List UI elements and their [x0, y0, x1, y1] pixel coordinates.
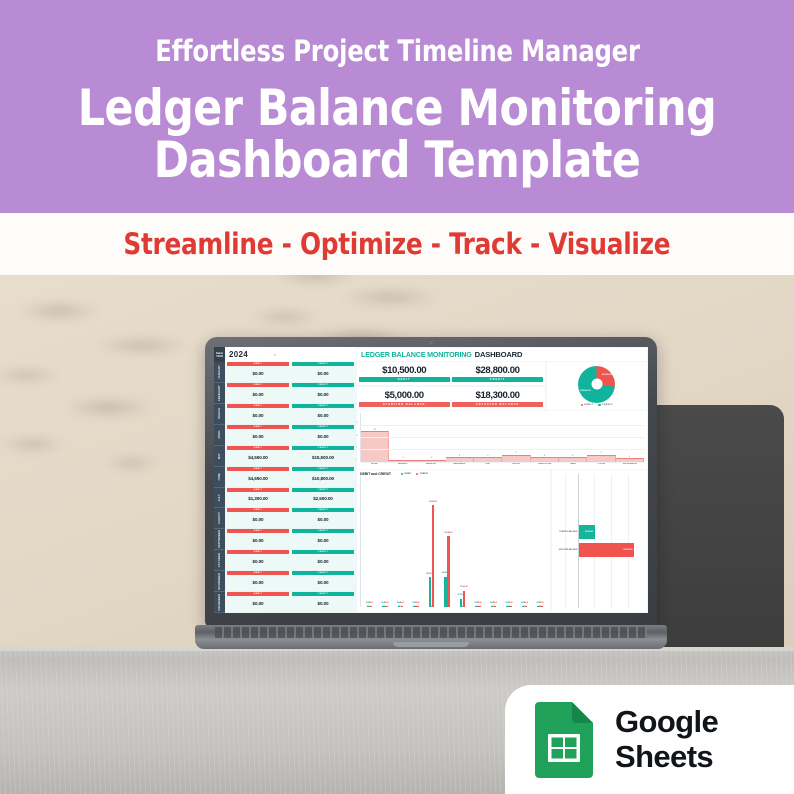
- x-axis-label: NOV: [517, 607, 532, 611]
- bar-value-label: $2,500.00: [461, 587, 468, 588]
- kpi-credit-value: $28,800.00: [452, 365, 543, 376]
- ledger-debit-cell: DEBIT$0.00: [227, 404, 289, 423]
- ledger-row: DEBIT$0.00CREDIT$0.00: [225, 571, 356, 592]
- ledger-debit-cell: DEBIT$0.00: [227, 362, 289, 381]
- ledger-row: DEBIT$1,300.00CREDIT$2,500.00: [225, 488, 356, 509]
- google-sheets-label: Google Sheets: [615, 705, 718, 774]
- ledger-credit-cell: CREDIT$0.00: [292, 550, 354, 569]
- ledger-debit-value: $0.00: [227, 575, 289, 590]
- chevron-down-icon[interactable]: ▾: [274, 353, 276, 357]
- bar-credit: $2,500.00: [463, 591, 466, 607]
- dashboard-header: LEDGER BALANCE MONITORING DASHBOARD: [357, 348, 647, 361]
- kpi-debit-value: $10,500.00: [359, 365, 450, 376]
- bar-group: $0.00$0.00: [409, 476, 424, 607]
- step-value-label: 2: [572, 455, 573, 457]
- kpi-row-bottom: $5,000.00 STARTING BALANCE $18,300.00 AD…: [357, 387, 545, 410]
- kpi-adjusted-balance: $18,300.00 ADJUSTED BALANCE: [452, 389, 543, 409]
- bar-value-label: $0.00: [369, 603, 373, 604]
- tagline-band: Streamline - Optimize - Track - Visualiz…: [0, 213, 794, 275]
- kpi-starting-balance: $5,000.00 STARTING BALANCE: [359, 389, 450, 409]
- bar-group: $0.00$0.00: [502, 476, 517, 607]
- page-title-line-1: Ledger Balance Monitoring: [78, 82, 716, 134]
- ledger-debit-value: $0.00: [227, 596, 289, 611]
- ledger-debit-value: $0.00: [227, 554, 289, 569]
- legend-swatch-credit-icon: [598, 404, 600, 406]
- ledger-credit-value: $0.00: [292, 408, 354, 423]
- ledger-debit-cell: DEBIT$0.00: [227, 592, 289, 611]
- bar-group: $0.00$0.00: [486, 476, 501, 607]
- kpi-grid: $10,500.00 DEBIT $28,800.00 CREDIT: [357, 362, 545, 410]
- x-axis-label: DEC: [533, 607, 548, 611]
- laptop-keyboard: [215, 627, 647, 638]
- ledger-debit-value: $0.00: [227, 387, 289, 402]
- hero-eyebrow: Effortless Project Timeline Manager: [155, 34, 640, 68]
- sidebar-month-sep[interactable]: SEPTEMBER: [214, 529, 225, 550]
- ledger-row: DEBIT$0.00CREDIT$0.00: [225, 550, 356, 571]
- ledger-credit-value: $0.00: [292, 554, 354, 569]
- x-axis-label: MARKETING: [417, 463, 445, 468]
- donut-legend: DEBIT CREDIT: [581, 404, 613, 406]
- ledger-table: 2024 ▾ DEBIT$0.00CREDIT$0.00DEBIT$0.00CR…: [225, 347, 356, 613]
- ledger-credit-cell: CREDIT$0.00: [292, 508, 354, 527]
- bar-value-label: $0.00: [540, 603, 544, 604]
- debit-credit-donut-chart: $10,500.00 $28,800.00: [578, 366, 615, 403]
- category-step-series: 13112232232: [361, 413, 644, 462]
- ledger-credit-cell: CREDIT$10,800.00: [292, 467, 354, 486]
- ledger-credit-cell: CREDIT$0.00: [292, 404, 354, 423]
- page-title-line-2: Dashboard Template: [78, 134, 716, 186]
- kpi-debit-label: DEBIT: [359, 377, 450, 382]
- hbar-value-adjusted-balance: $18,300.00: [624, 549, 633, 551]
- debit-credit-bar-legend: DEBIT CREDIT: [401, 473, 428, 475]
- sidebar-month-oct[interactable]: OCTOBER: [214, 550, 225, 571]
- x-axis-label: MAY: [423, 607, 438, 611]
- kpi-starting-balance-value: $5,000.00: [359, 390, 450, 401]
- kpi-credit-label: CREDIT: [452, 377, 543, 382]
- step-value-label: 2: [629, 456, 630, 458]
- step-value-label: 2: [459, 455, 460, 457]
- donut-legend-credit: CREDIT: [598, 404, 613, 406]
- ledger-row: DEBIT$0.00CREDIT$0.00: [225, 362, 356, 383]
- hbar-bar-adjusted-balance: $18,300.00: [579, 543, 634, 557]
- sidebar-month-jul[interactable]: JULY: [214, 488, 225, 509]
- ledger-credit-value: $15,500.00: [292, 450, 354, 465]
- kpi-region: $10,500.00 DEBIT $28,800.00 CREDIT: [357, 362, 647, 410]
- ledger-credit-cell: CREDIT$0.00: [292, 592, 354, 611]
- ledger-debit-value: $0.00: [227, 408, 289, 423]
- month-sidebar: Select YEAR JANUARY FEBRUARY MARCH APRIL…: [214, 347, 225, 613]
- hbar-row-starting-balance: STARTING BALANCE $5,000.00: [554, 525, 645, 539]
- bar-value-label: $0.00: [524, 603, 528, 604]
- ledger-debit-cell: DEBIT$0.00: [227, 425, 289, 444]
- hbar-value-starting-balance: $5,000.00: [585, 531, 593, 533]
- category-step-chart-plot: 13112232232 051015: [360, 413, 644, 462]
- bar-group: $0.00$0.00: [533, 476, 548, 607]
- legend-swatch-bar-credit-icon: [416, 473, 418, 475]
- ledger-row: DEBIT$0.00CREDIT$0.00: [225, 529, 356, 550]
- ledger-credit-value: $0.00: [292, 387, 354, 402]
- category-step-chart-xaxis: INCOMEINSURANCEMARKETINGMAINTENANCERENTS…: [360, 462, 644, 468]
- laptop-screen: Select YEAR JANUARY FEBRUARY MARCH APRIL…: [214, 347, 648, 613]
- select-year-label-line2: YEAR: [216, 355, 223, 358]
- ledger-debit-value: $4,650.00: [227, 471, 289, 486]
- bar-group: $0.00$0.00: [378, 476, 393, 607]
- kpi-debit: $10,500.00 DEBIT: [359, 364, 450, 384]
- bar-credit: $10,800.00: [447, 536, 450, 607]
- hbar-bar-starting-balance: $5,000.00: [579, 525, 595, 539]
- webcam-icon: [429, 341, 433, 345]
- sidebar-month-jun[interactable]: JUNE: [214, 467, 225, 488]
- x-axis-label: APR: [408, 607, 423, 611]
- x-axis-label: INSURANCE: [388, 463, 416, 468]
- ledger-credit-value: $10,800.00: [292, 471, 354, 486]
- ledger-debit-cell: DEBIT$4,550.00: [227, 446, 289, 465]
- ledger-credit-cell: CREDIT$0.00: [292, 383, 354, 402]
- ledger-credit-cell: CREDIT$0.00: [292, 571, 354, 590]
- ledger-debit-cell: DEBIT$0.00: [227, 383, 289, 402]
- ledger-credit-cell: CREDIT$0.00: [292, 362, 354, 381]
- balance-comparison-card: STARTING BALANCE $5,000.00 ADJUSTED BALA…: [552, 470, 647, 612]
- laptop-mockup: Select YEAR JANUARY FEBRUARY MARCH APRIL…: [195, 337, 667, 655]
- ledger-debit-cell: DEBIT$0.00: [227, 508, 289, 527]
- category-step-chart-card: 13112232232 051015 INCOMEINSURANCEMARKET…: [357, 411, 647, 469]
- ledger-debit-value: $4,550.00: [227, 450, 289, 465]
- ledger-credit-value: $0.00: [292, 533, 354, 548]
- ledger-credit-cell: CREDIT$0.00: [292, 529, 354, 548]
- bar-credit: $0.00: [478, 606, 481, 607]
- ledger-credit-value: $2,500.00: [292, 492, 354, 507]
- step-value-label: 13: [374, 429, 376, 431]
- sidebar-month-feb[interactable]: FEBRUARY: [214, 383, 225, 404]
- ledger-debit-value: $0.00: [227, 512, 289, 527]
- bar-value-label: $10,800.00: [445, 533, 453, 534]
- donut-chart-card: $10,500.00 $28,800.00 DEBIT CREDIT: [547, 362, 647, 410]
- product-photo-scene: Select YEAR JANUARY FEBRUARY MARCH APRIL…: [0, 275, 794, 794]
- hero-banner: Effortless Project Timeline Manager Ledg…: [0, 0, 794, 213]
- ledger-credit-cell: CREDIT$2,500.00: [292, 488, 354, 507]
- bar-credit: $0.00: [401, 606, 404, 607]
- bar-credit: $0.00: [540, 606, 543, 607]
- x-axis-label: JAN: [361, 607, 376, 611]
- bar-group: $0.00$0.00: [362, 476, 377, 607]
- ledger-debit-value: $0.00: [227, 429, 289, 444]
- ledger-debit-cell: DEBIT$0.00: [227, 550, 289, 569]
- bar-group: $0.00$0.00: [393, 476, 408, 607]
- sidebar-month-may[interactable]: MAY: [214, 446, 225, 467]
- debit-credit-bar-plot: $0.00$0.00$0.00$0.00$0.00$0.00$0.00$0.00…: [360, 476, 548, 607]
- ledger-row: DEBIT$0.00CREDIT$0.00: [225, 425, 356, 446]
- bottom-charts-row: DEBIT and CREDIT DEBIT CREDIT $0.00$0.00…: [357, 470, 647, 612]
- y-axis-tick: 10: [356, 435, 358, 437]
- bar-group: $0.00$0.00: [517, 476, 532, 607]
- step-value-label: 2: [487, 455, 488, 457]
- donut-label-debit: $10,500.00: [602, 374, 612, 376]
- bar-group: $4,550.00$15,500.00: [424, 476, 439, 607]
- x-axis-label: RENT: [474, 463, 502, 468]
- hbar-label-adjusted-balance: ADJUSTED BALANCE: [554, 549, 580, 551]
- bar-value-label: $0.00: [416, 603, 420, 604]
- bar-credit: $0.00: [370, 606, 373, 607]
- bar-legend-debit: DEBIT: [401, 473, 411, 475]
- ledger-row: DEBIT$4,650.00CREDIT$10,800.00: [225, 467, 356, 488]
- dashboard-title-accent: LEDGER BALANCE MONITORING: [361, 350, 472, 359]
- year-selector[interactable]: 2024 ▾: [225, 347, 356, 362]
- ledger-debit-value: $0.00: [227, 533, 289, 548]
- step-segment: 13: [361, 431, 389, 462]
- bar-credit: $0.00: [416, 606, 419, 607]
- ledger-row: DEBIT$0.00CREDIT$0.00: [225, 592, 356, 613]
- hbar-row-adjusted-balance: ADJUSTED BALANCE $18,300.00: [554, 543, 645, 557]
- sidebar-month-dec[interactable]: DECEMBER: [214, 592, 225, 613]
- bar-legend-credit: CREDIT: [416, 473, 428, 475]
- x-axis-label: MAINTENANCE: [445, 463, 473, 468]
- hbar-label-starting-balance: STARTING BALANCE: [554, 531, 580, 533]
- google-sheets-badge: Google Sheets: [505, 685, 794, 794]
- x-axis-label: FEB: [377, 607, 392, 611]
- bar-value-label: $0.00: [493, 603, 497, 604]
- sidebar-month-jan[interactable]: JANUARY: [214, 362, 225, 383]
- google-sheets-label-line2: Sheets: [615, 740, 718, 775]
- step-value-label: 1: [431, 457, 432, 459]
- debit-credit-bar-xaxis: JANFEBMARAPRMAYJUNJULAUGSEPOCTNOVDEC: [360, 607, 548, 611]
- kpi-adjusted-balance-label: ADJUSTED BALANCE: [452, 402, 543, 407]
- sidebar-month-nov[interactable]: NOVEMBER: [214, 571, 225, 592]
- dashboard-panel: LEDGER BALANCE MONITORING DASHBOARD $10,…: [356, 347, 648, 613]
- ledger-credit-value: $0.00: [292, 575, 354, 590]
- kpi-starting-balance-label: STARTING BALANCE: [359, 402, 450, 407]
- bar-value-label: $0.00: [509, 603, 513, 604]
- ledger-credit-value: $0.00: [292, 429, 354, 444]
- google-sheets-icon: [535, 702, 593, 778]
- ledger-debit-cell: DEBIT$4,650.00: [227, 467, 289, 486]
- laptop-trackpad-notch: [393, 642, 469, 647]
- x-axis-label: MAR: [392, 607, 407, 611]
- sidebar-month-aug[interactable]: AUGUST: [214, 508, 225, 529]
- x-axis-label: SUPPLIES: [502, 463, 530, 468]
- ledger-debit-cell: DEBIT$0.00: [227, 529, 289, 548]
- tagline-text: Streamline - Optimize - Track - Visualiz…: [124, 227, 671, 261]
- spreadsheet-dashboard: Select YEAR JANUARY FEBRUARY MARCH APRIL…: [214, 347, 648, 613]
- legend-swatch-bar-debit-icon: [401, 473, 403, 475]
- ledger-debit-cell: DEBIT$0.00: [227, 571, 289, 590]
- y-axis-tick: 0: [356, 459, 357, 461]
- donut-label-credit: $28,800.00: [580, 390, 590, 392]
- sidebar-month-mar[interactable]: MARCH: [214, 404, 225, 425]
- donut-legend-debit: DEBIT: [581, 404, 594, 406]
- ledger-credit-value: $0.00: [292, 512, 354, 527]
- bar-credit: $0.00: [494, 606, 497, 607]
- x-axis-label: TRAVEL: [559, 463, 587, 468]
- ledger-credit-cell: CREDIT$0.00: [292, 425, 354, 444]
- bar-value-label: $0.00: [385, 603, 389, 604]
- x-axis-label: SEP: [486, 607, 501, 611]
- year-value: 2024: [229, 350, 248, 359]
- y-axis-tick: 5: [356, 447, 357, 449]
- google-sheets-label-line1: Google: [615, 705, 718, 740]
- x-axis-label: MISCELLANEOUS: [616, 463, 644, 468]
- bar-group: $0.00$0.00: [471, 476, 486, 607]
- kpi-row-top: $10,500.00 DEBIT $28,800.00 CREDIT: [357, 362, 545, 385]
- step-value-label: 2: [544, 455, 545, 457]
- step-value-label: 3: [601, 452, 602, 454]
- ledger-debit-value: $0.00: [227, 366, 289, 381]
- step-value-label: 1: [402, 457, 403, 459]
- y-axis-tick: 15: [356, 422, 358, 424]
- step-value-label: 3: [516, 452, 517, 454]
- legend-swatch-debit-icon: [581, 404, 583, 406]
- x-axis-label: JUN: [439, 607, 454, 611]
- debit-credit-bar-card: DEBIT and CREDIT DEBIT CREDIT $0.00$0.00…: [357, 470, 550, 612]
- page-title: Ledger Balance Monitoring Dashboard Temp…: [78, 82, 716, 186]
- bar-group: $1,300.00$2,500.00: [455, 476, 470, 607]
- ledger-debit-value: $1,300.00: [227, 492, 289, 507]
- bar-value-label: $0.00: [478, 603, 482, 604]
- kpi-adjusted-balance-value: $18,300.00: [452, 390, 543, 401]
- ledger-debit-cell: DEBIT$1,300.00: [227, 488, 289, 507]
- x-axis-label: AUG: [470, 607, 485, 611]
- bar-value-label: $15,500.00: [429, 502, 437, 503]
- sidebar-month-apr[interactable]: APRIL: [214, 425, 225, 446]
- ledger-row: DEBIT$4,550.00CREDIT$15,500.00: [225, 446, 356, 467]
- bar-value-label: $0.00: [400, 603, 404, 604]
- bar-credit: $0.00: [509, 606, 512, 607]
- laptop-lid: Select YEAR JANUARY FEBRUARY MARCH APRIL…: [205, 337, 657, 627]
- x-axis-label: INCOME: [360, 463, 388, 468]
- bar-credit: $0.00: [525, 606, 528, 607]
- dashboard-title-main: DASHBOARD: [475, 350, 523, 359]
- ledger-credit-value: $0.00: [292, 596, 354, 611]
- kpi-credit: $28,800.00 CREDIT: [452, 364, 543, 384]
- select-year-label: Select YEAR: [214, 347, 225, 362]
- ledger-row: DEBIT$0.00CREDIT$0.00: [225, 383, 356, 404]
- bar-credit: $0.00: [385, 606, 388, 607]
- x-axis-label: JUL: [455, 607, 470, 611]
- x-axis-label: OCT: [501, 607, 516, 611]
- bar-credit: $15,500.00: [432, 505, 435, 607]
- bar-group: $4,650.00$10,800.00: [440, 476, 455, 607]
- ledger-rows: DEBIT$0.00CREDIT$0.00DEBIT$0.00CREDIT$0.…: [225, 362, 356, 613]
- x-axis-label: SUBSCRIPTIONS: [530, 463, 558, 468]
- x-axis-label: UTILITIES: [587, 463, 615, 468]
- ledger-row: DEBIT$0.00CREDIT$0.00: [225, 404, 356, 425]
- ledger-row: DEBIT$0.00CREDIT$0.00: [225, 508, 356, 529]
- ledger-credit-value: $0.00: [292, 366, 354, 381]
- ledger-credit-cell: CREDIT$15,500.00: [292, 446, 354, 465]
